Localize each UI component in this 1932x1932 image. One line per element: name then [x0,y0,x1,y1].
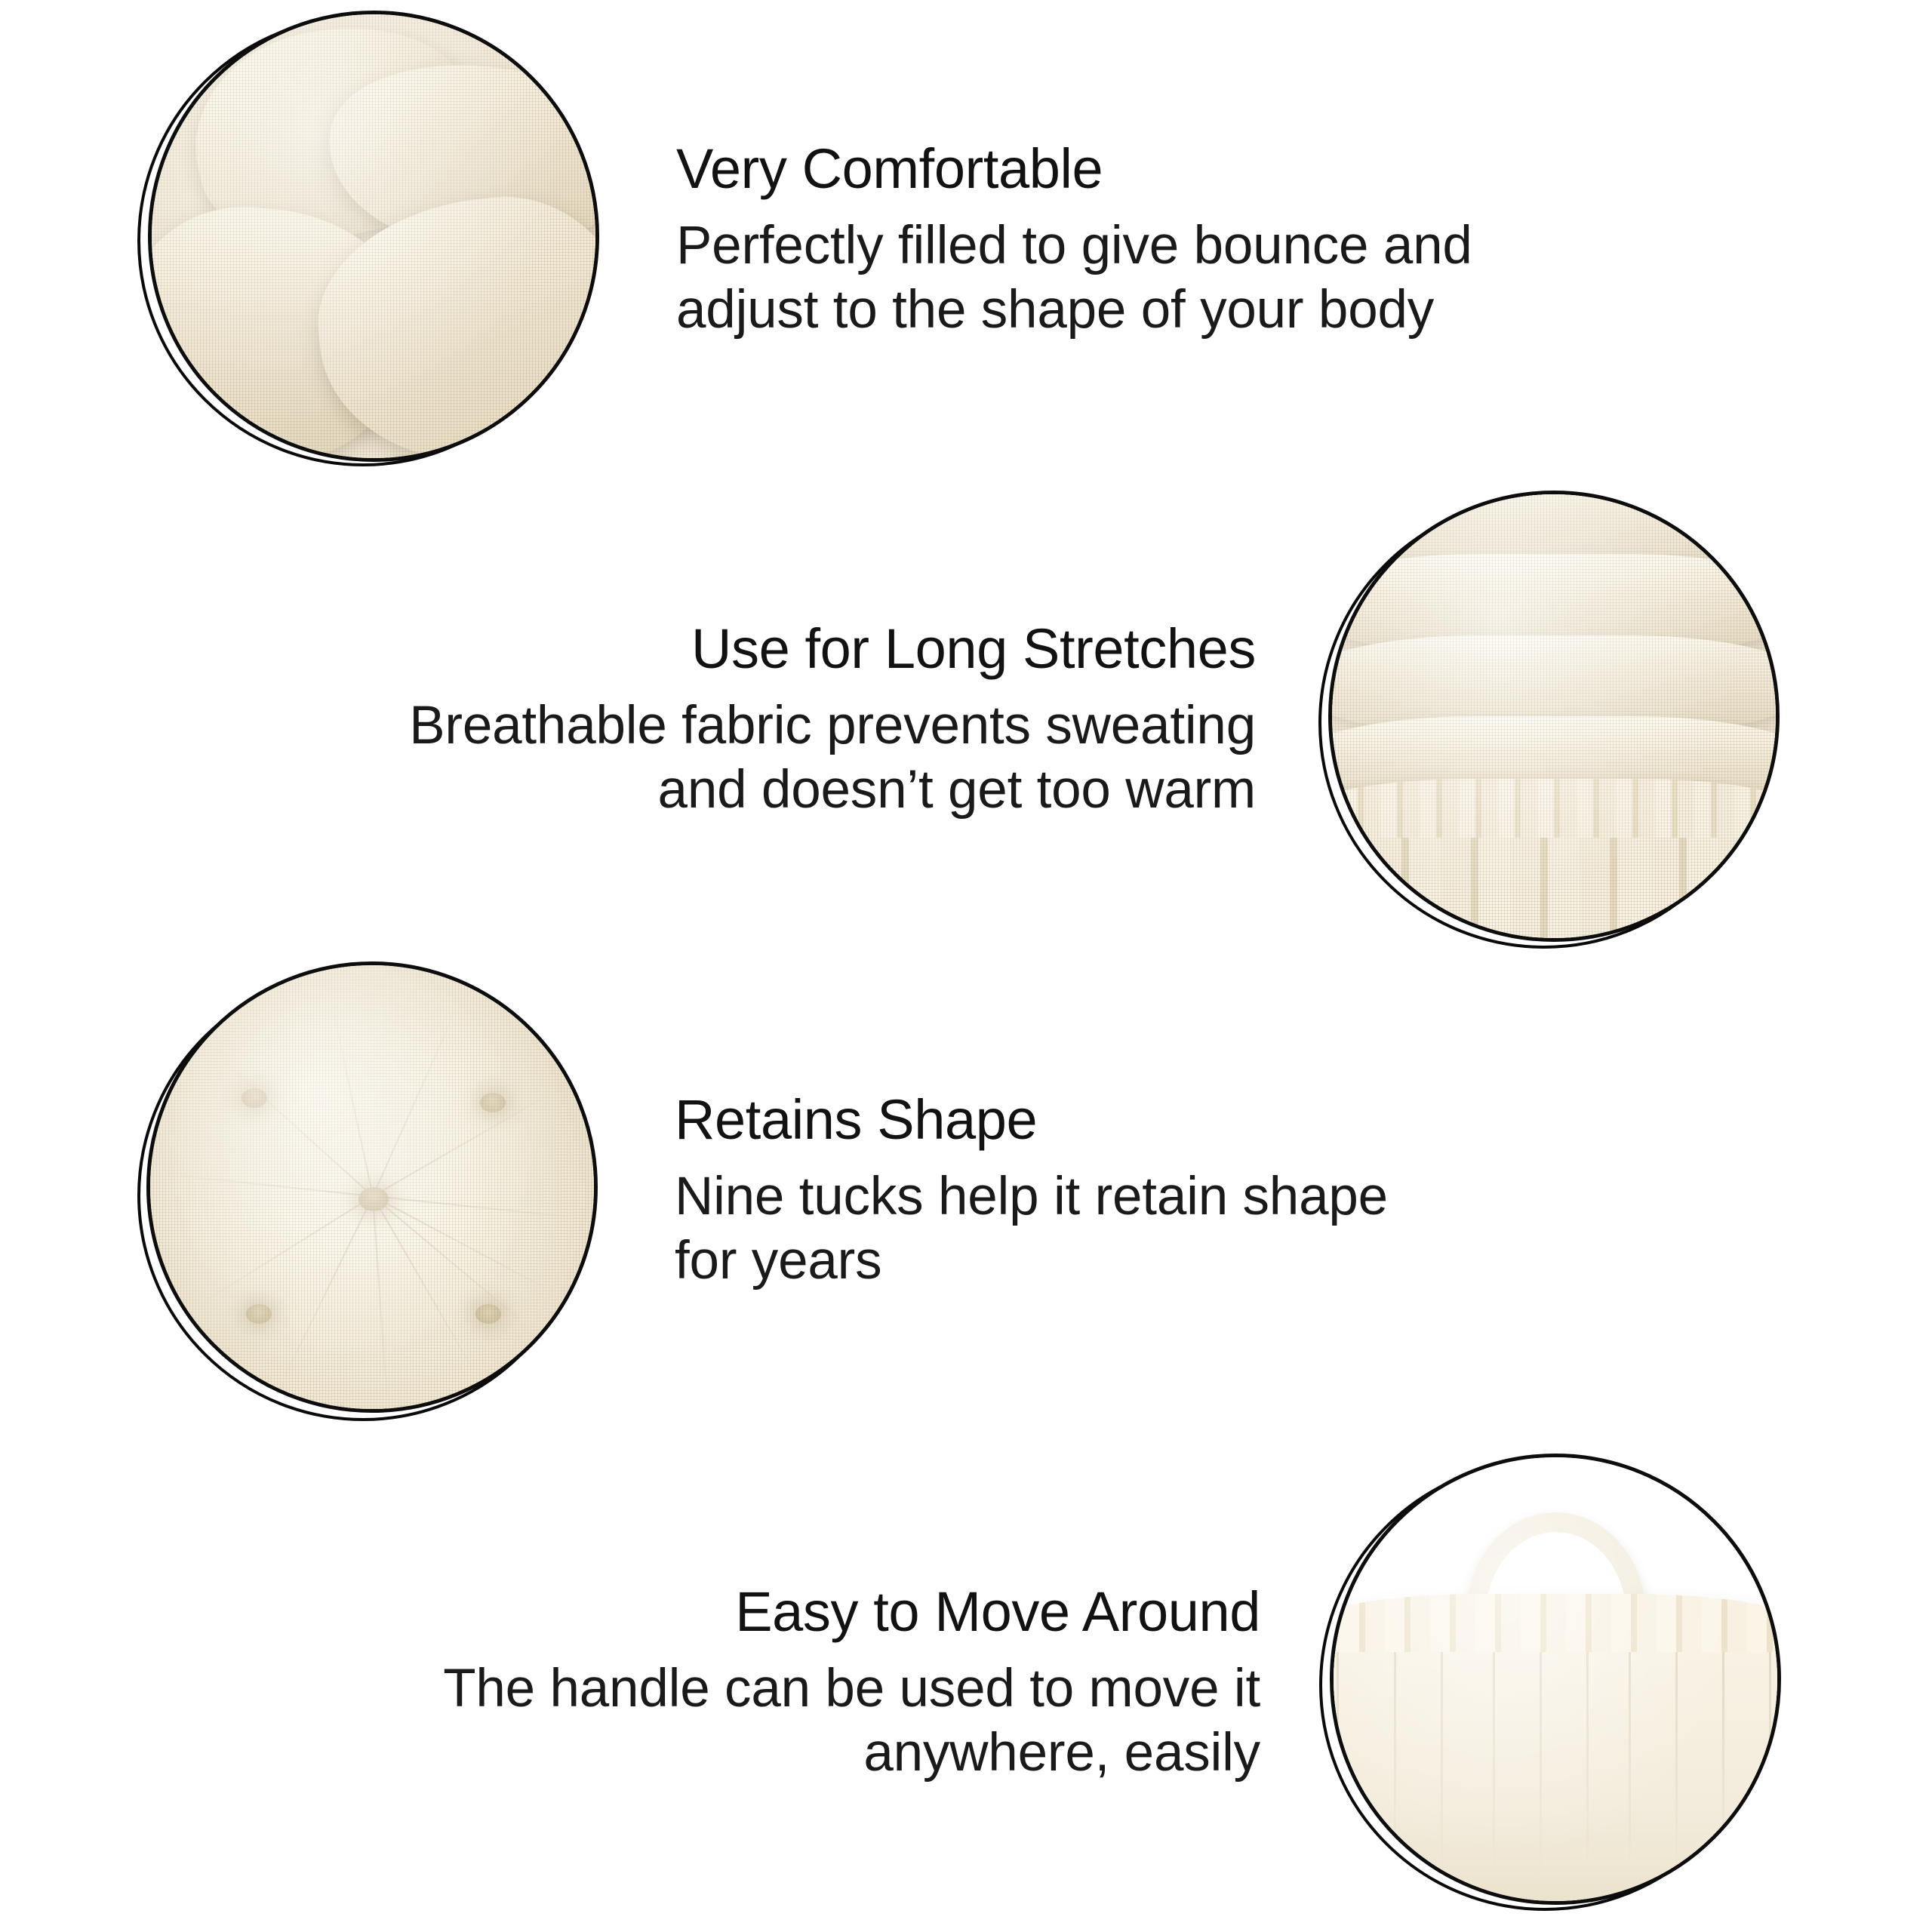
medallion-inner-ring-icon [1330,1454,1781,1905]
feature-copy-very-comfortable: Very Comfortable Perfectly filled to giv… [610,141,1793,342]
feature-body-line-2: and doesn’t get too warm [658,760,1256,820]
feature-image-use-for-long-stretches [1328,491,1790,952]
feature-headline: Retains Shape [675,1092,1792,1148]
feature-copy-retains-shape: Retains Shape Nine tucks help it retain … [608,1092,1792,1293]
feature-row-easy-to-move-around: Easy to Move Around The handle can be us… [139,1454,1792,1915]
medallion-inner-ring-icon [148,11,599,462]
feature-body-line-2: for years [675,1231,881,1291]
cushion-photo-tufted-rows [1329,491,1779,941]
feature-body: Nine tucks help it retain shape for year… [675,1164,1792,1293]
feature-copy-easy-to-move-around: Easy to Move Around The handle can be us… [139,1584,1330,1785]
feature-image-retains-shape [146,961,608,1423]
feature-body-line-1: The handle can be used to move it [443,1659,1260,1718]
feature-headline: Use for Long Stretches [139,621,1256,677]
feature-copy-use-for-long-stretches: Use for Long Stretches Breathable fabric… [139,621,1328,822]
medallion-inner-ring-icon [146,961,598,1413]
feature-image-easy-to-move-around [1330,1454,1792,1915]
feature-body: Perfectly filled to give bounce and adju… [676,214,1793,342]
cushion-photo-handle [1331,1454,1780,1904]
feature-row-retains-shape: Retains Shape Nine tucks help it retain … [146,961,1792,1423]
infographic-canvas: Very Comfortable Perfectly filled to giv… [0,0,1932,1932]
feature-body-line-1: Nine tucks help it retain shape [675,1167,1388,1226]
feature-headline: Very Comfortable [676,141,1793,197]
feature-body-line-2: anywhere, easily [863,1723,1260,1783]
cushion-photo-round-top [147,962,597,1412]
feature-row-very-comfortable: Very Comfortable Perfectly filled to giv… [148,11,1793,472]
feature-body-line-1: Breathable fabric prevents sweating [409,696,1256,755]
medallion-inner-ring-icon [1328,491,1780,942]
cushion-photo-knotted [149,11,598,461]
feature-body-line-2: adjust to the shape of your body [676,280,1434,340]
feature-row-use-for-long-stretches: Use for Long Stretches Breathable fabric… [139,491,1790,952]
feature-image-very-comfortable [148,11,610,472]
feature-body-line-1: Perfectly filled to give bounce and [676,216,1472,275]
feature-headline: Easy to Move Around [139,1584,1260,1640]
feature-body: Breathable fabric prevents sweating and … [139,694,1256,822]
feature-body: The handle can be used to move it anywhe… [139,1657,1260,1785]
